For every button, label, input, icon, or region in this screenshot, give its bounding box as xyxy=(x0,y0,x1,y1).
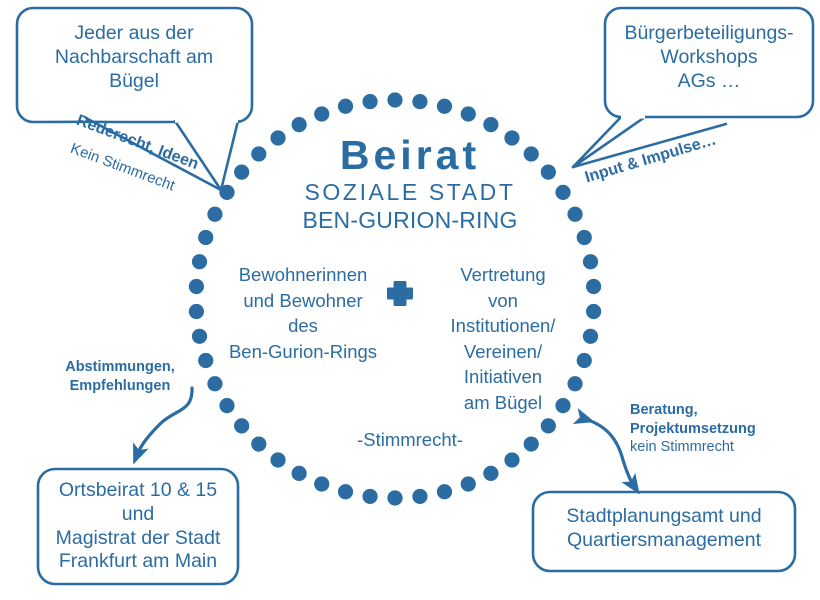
ring-dot xyxy=(292,117,307,132)
plus-icon xyxy=(387,281,413,306)
ring-dot xyxy=(234,165,249,180)
bubble-top-right[interactable] xyxy=(573,8,813,167)
ring-dot xyxy=(555,398,570,413)
ring-dot xyxy=(198,353,213,368)
ring-dot xyxy=(189,304,204,319)
arrow-beirat-to-ortsbeirat xyxy=(137,388,192,455)
ring-dot xyxy=(314,476,329,491)
diagram-canvas: Beirat SOZIALE STADT BEN-GURION-RING Bew… xyxy=(0,0,820,600)
arrow-beirat-stadtplanungsamt xyxy=(585,419,634,486)
ring-dot xyxy=(586,304,601,319)
ring-dot xyxy=(192,329,207,344)
ring-dot xyxy=(270,130,285,145)
ring-dot xyxy=(583,254,598,269)
ring-dot xyxy=(437,484,452,499)
ring-dot xyxy=(234,418,249,433)
ring-dot xyxy=(362,94,377,109)
ring-dot xyxy=(192,254,207,269)
ring-dot xyxy=(387,92,402,107)
ring-dot xyxy=(555,185,570,200)
ring-dot xyxy=(583,329,598,344)
ring-dot xyxy=(586,279,601,294)
ring-dot xyxy=(461,476,476,491)
ring-dot xyxy=(412,489,427,504)
ring-dot xyxy=(362,489,377,504)
ring-dot xyxy=(483,466,498,481)
ring-dot xyxy=(504,452,519,467)
ring-dot xyxy=(198,230,213,245)
bubble-top-left[interactable] xyxy=(17,8,252,190)
ring-dot xyxy=(314,106,329,121)
box-bottom-left[interactable] xyxy=(38,469,238,584)
ring-dot xyxy=(207,376,222,391)
ring-dot xyxy=(541,165,556,180)
ring-dot xyxy=(219,398,234,413)
ring-dot xyxy=(412,94,427,109)
ring-dot xyxy=(524,146,539,161)
ring-dot xyxy=(524,436,539,451)
ring-dot xyxy=(292,466,307,481)
ring-dot xyxy=(251,436,266,451)
box-bottom-right[interactable] xyxy=(533,492,795,571)
ring-dot xyxy=(483,117,498,132)
ring-dot xyxy=(567,207,582,222)
ring-dot xyxy=(338,99,353,114)
ring-dot xyxy=(270,452,285,467)
ring-dot xyxy=(338,484,353,499)
ring-dot xyxy=(437,99,452,114)
ring-dot xyxy=(461,106,476,121)
ring-dot xyxy=(504,130,519,145)
ring-dot xyxy=(207,207,222,222)
ring-dot xyxy=(189,279,204,294)
ring-dot xyxy=(387,490,402,505)
ring-dot xyxy=(567,376,582,391)
ring-dot xyxy=(541,418,556,433)
diagram-vector-layer xyxy=(0,0,820,600)
ring-dot xyxy=(577,230,592,245)
ring-dot xyxy=(577,353,592,368)
ring-dot xyxy=(251,146,266,161)
